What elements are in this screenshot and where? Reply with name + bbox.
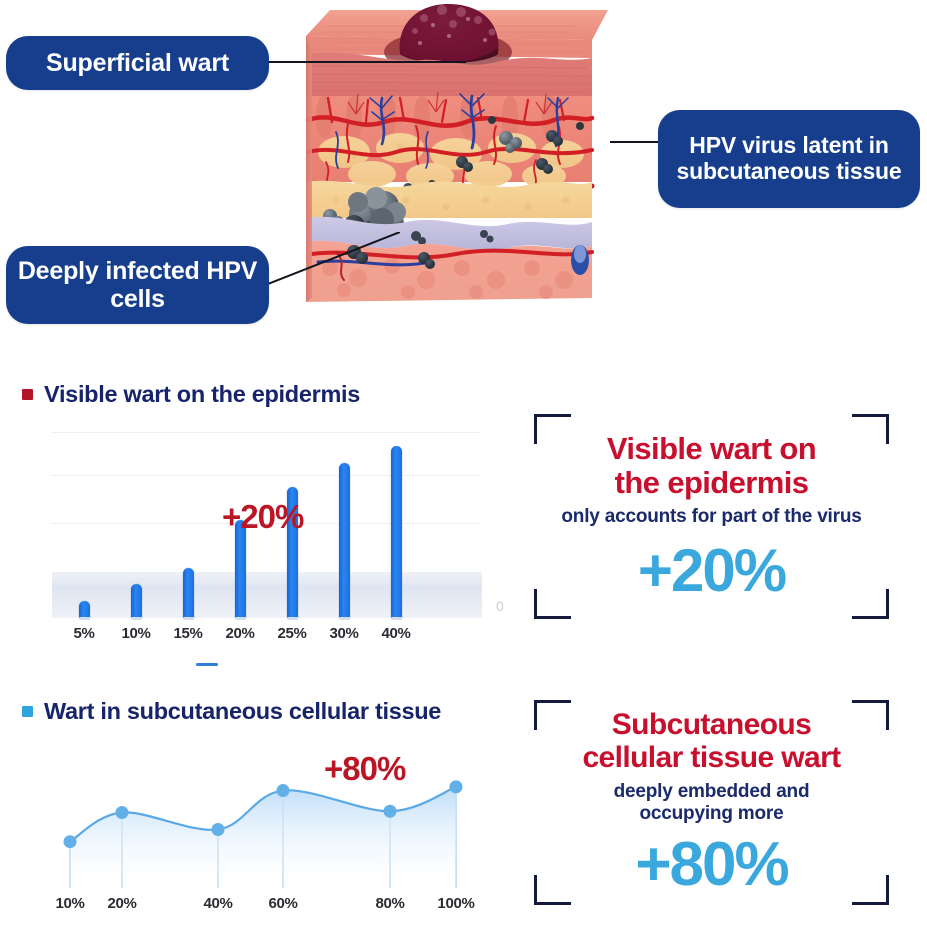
area-chart-subcutaneous: +80% 10%20%40%60%80%100%: [40, 740, 510, 920]
x-axis-label: 10%: [55, 895, 84, 912]
callout-deeply-infected[interactable]: Deeply infected HPV cells: [6, 246, 269, 324]
leader-line-deep: [268, 232, 400, 287]
card-title-line1: Subcutaneous: [582, 709, 840, 741]
card-title: Subcutaneous cellular tissue wart: [582, 709, 840, 774]
section-heading-label: Wart in subcutaneous cellular tissue: [44, 698, 441, 725]
card-subtitle: deeply embedded and occupying more: [614, 781, 810, 824]
area-fill: [70, 787, 456, 888]
card-subtitle: only accounts for part of the virus: [561, 506, 861, 528]
bar: [79, 601, 90, 618]
callout-hpv-label: HPV virus latent in subcutaneous tissue: [666, 133, 912, 185]
x-axis-label: 60%: [268, 895, 297, 912]
bar-chart-x-axis: 5%10%15%20%25%30%40%: [40, 625, 490, 647]
x-axis-label: 40%: [203, 895, 232, 912]
data-point: [277, 784, 290, 797]
card-big-value: +80%: [635, 834, 787, 896]
callout-card-visible-wart: Visible wart on the epidermis only accou…: [534, 414, 889, 619]
leader-line-hpv: [610, 141, 660, 143]
bullet-square-icon: [22, 706, 33, 717]
callout-hpv-latent[interactable]: HPV virus latent in subcutaneous tissue: [658, 110, 920, 208]
x-axis-label: 40%: [381, 625, 410, 642]
x-axis-label: 10%: [121, 625, 150, 642]
area-chart-annotation: +80%: [324, 750, 405, 788]
anatomy-panel: Superficial wart HPV virus latent in sub…: [0, 0, 927, 350]
data-point: [384, 805, 397, 818]
card-subtitle-line2: occupying more: [614, 803, 810, 825]
area-chart-x-axis: 10%20%40%60%80%100%: [40, 895, 510, 917]
bar-base: [339, 617, 350, 620]
callout-deep-label: Deeply infected HPV cells: [6, 257, 269, 313]
bar-base: [131, 617, 142, 620]
data-point: [450, 780, 463, 793]
data-point: [116, 806, 129, 819]
area-chart-plot-area: [40, 740, 510, 900]
card-title-line2: the epidermis: [607, 466, 816, 499]
bullet-square-icon: [22, 389, 33, 400]
x-axis-label: 100%: [437, 895, 474, 912]
callout-card-subcutaneous: Subcutaneous cellular tissue wart deeply…: [534, 700, 889, 905]
bar-chart-legend-marker: [196, 663, 218, 666]
bar-chart-visible-wart: +20% 0 5%10%15%20%25%30%40%: [40, 420, 490, 670]
bar-chart-plot-area: +20% 0: [40, 420, 490, 620]
card-big-value: +20%: [638, 541, 785, 601]
x-axis-label: 30%: [329, 625, 358, 642]
x-axis-label: 5%: [73, 625, 94, 642]
x-axis-label: 80%: [375, 895, 404, 912]
data-point: [212, 823, 225, 836]
callout-superficial-wart[interactable]: Superficial wart: [6, 36, 269, 90]
card-title-line1: Visible wart on: [607, 432, 816, 465]
leader-line-superficial: [268, 61, 466, 63]
card-subtitle-line1: deeply embedded and: [614, 781, 810, 803]
card-title-line2: cellular tissue wart: [582, 742, 840, 774]
bar-base: [235, 617, 246, 620]
callout-superficial-label: Superficial wart: [46, 49, 229, 77]
bar-chart-annotation: +20%: [222, 498, 303, 536]
bar: [339, 463, 350, 618]
x-axis-label: 20%: [225, 625, 254, 642]
axis-zero-label: 0: [496, 598, 504, 614]
bar-base: [287, 617, 298, 620]
x-axis-label: 20%: [107, 895, 136, 912]
bar: [183, 568, 194, 618]
x-axis-label: 25%: [277, 625, 306, 642]
bar-base: [79, 617, 90, 620]
bar-base: [391, 617, 402, 620]
section-heading-visible-wart: Visible wart on the epidermis: [22, 381, 360, 408]
card-title: Visible wart on the epidermis: [607, 432, 816, 499]
section-heading-label: Visible wart on the epidermis: [44, 381, 360, 408]
data-point: [64, 835, 77, 848]
bar-base: [183, 617, 194, 620]
section-heading-subcutaneous-wart: Wart in subcutaneous cellular tissue: [22, 698, 441, 725]
bar: [391, 446, 402, 618]
x-axis-label: 15%: [173, 625, 202, 642]
bar: [131, 584, 142, 618]
